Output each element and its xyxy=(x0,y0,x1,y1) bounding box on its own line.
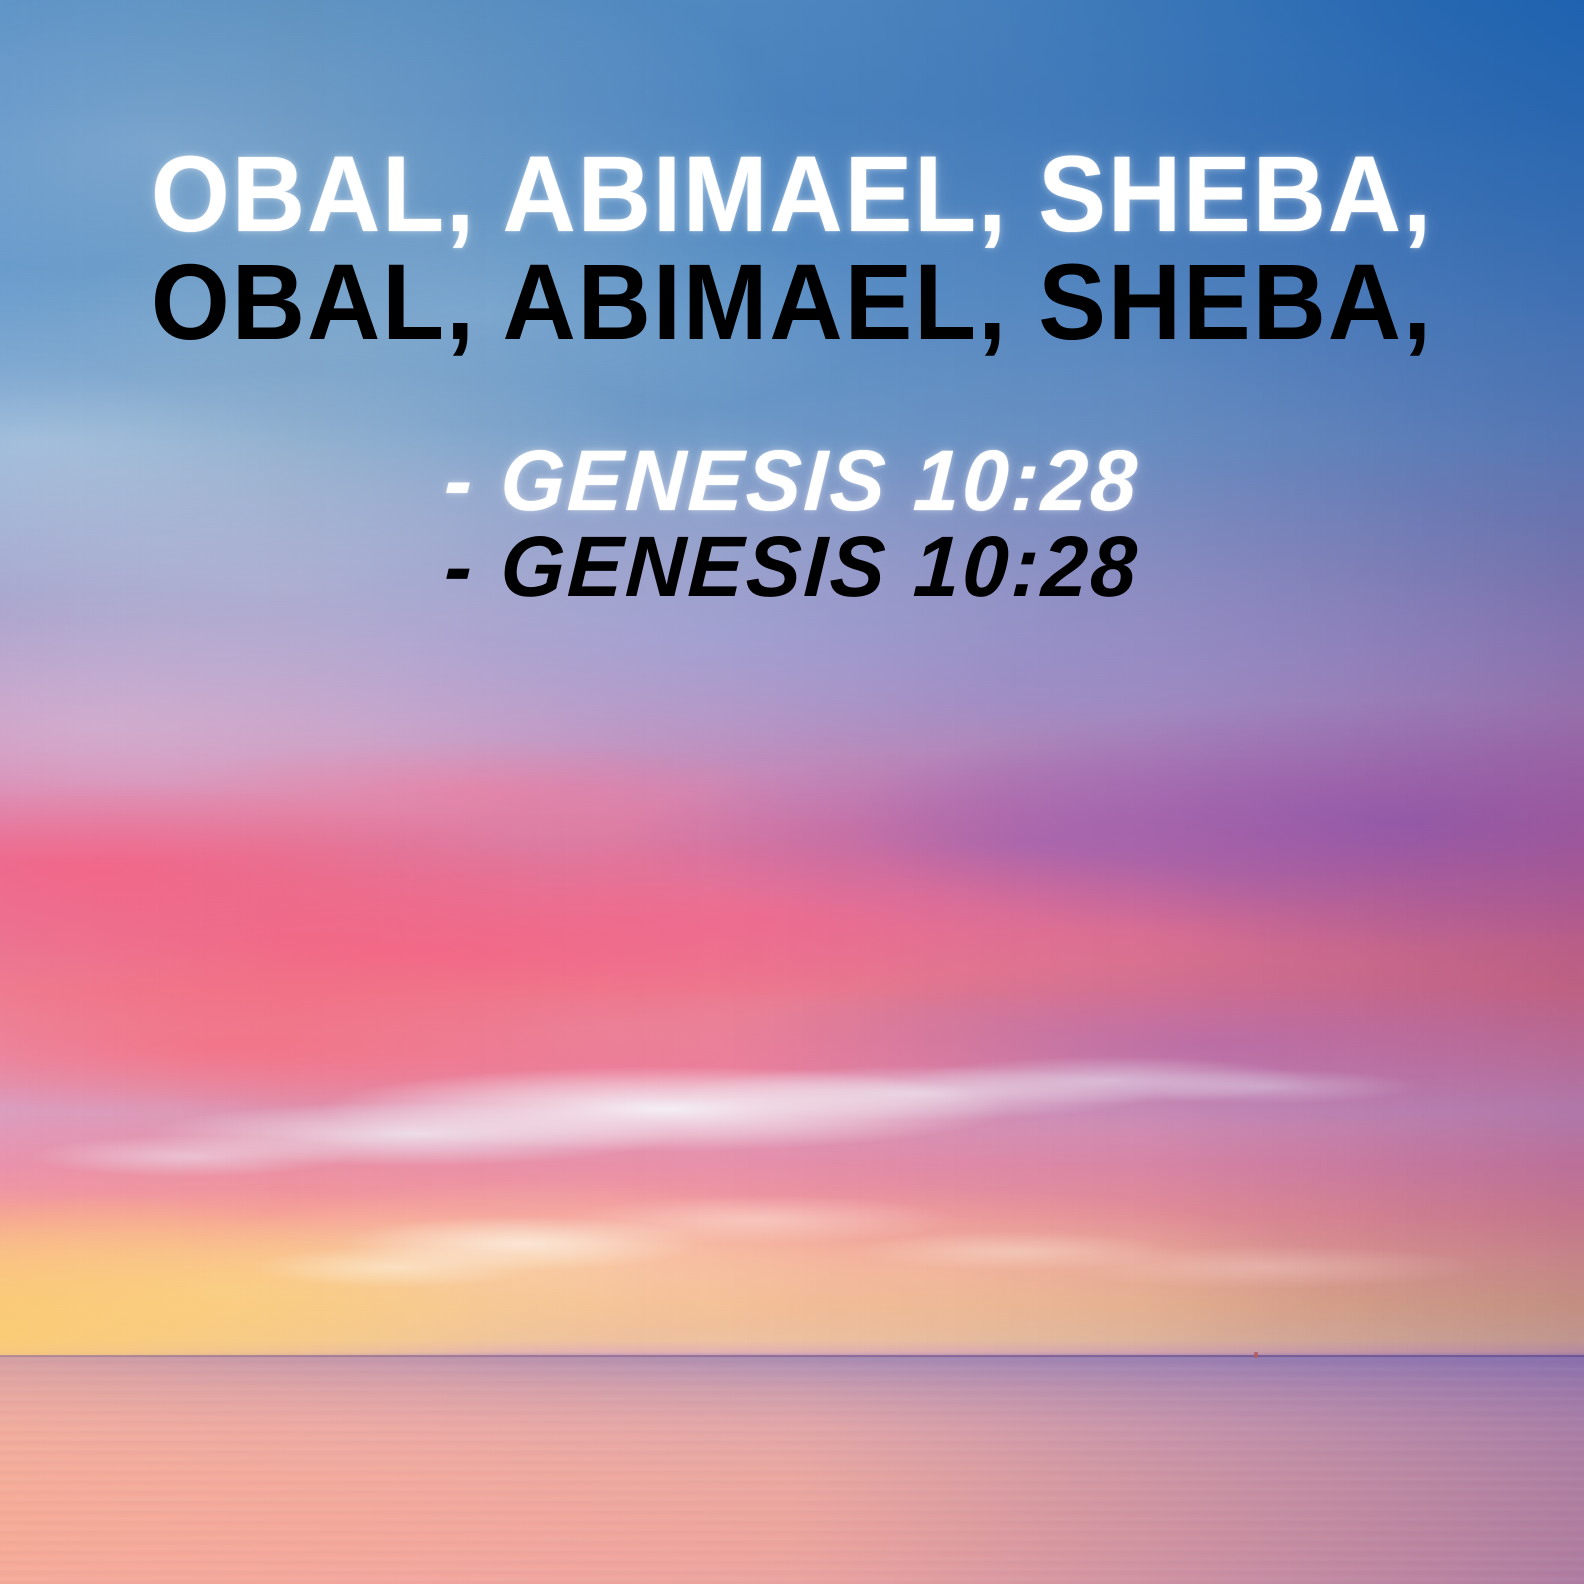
verse-text-block: OBAL, ABIMAEL, SHEBA, OBAL, ABIMAEL, SHE… xyxy=(0,0,1584,610)
verse-citation: - GENESIS 10:28 xyxy=(30,438,1555,524)
verse-image-canvas: OBAL, ABIMAEL, SHEBA, OBAL, ABIMAEL, SHE… xyxy=(0,0,1584,1584)
citation-line-wrap: - GENESIS 10:28 - GENESIS 10:28 xyxy=(0,438,1584,610)
verse-citation-inline-stroke: - GENESIS 10:28 xyxy=(30,524,1555,610)
verse-text: OBAL, ABIMAEL, SHEBA, xyxy=(48,140,1537,248)
horizon-line xyxy=(0,1355,1584,1357)
distant-vessel-speck xyxy=(1254,1352,1258,1358)
verse-text-inline-stroke: OBAL, ABIMAEL, SHEBA, xyxy=(48,248,1537,356)
ocean-wave-bands xyxy=(0,1356,1584,1584)
verse-line-wrap: OBAL, ABIMAEL, SHEBA, OBAL, ABIMAEL, SHE… xyxy=(0,140,1584,356)
